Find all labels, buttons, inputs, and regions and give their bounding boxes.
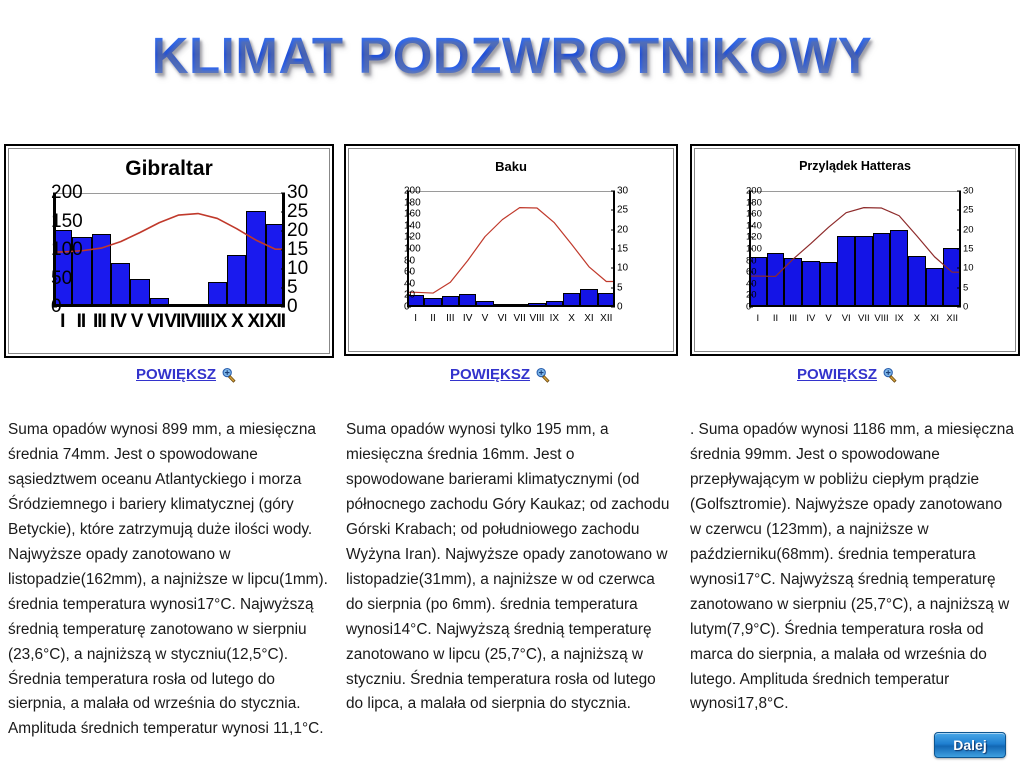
y-tick-label-right: 10 [963,263,974,274]
x-tick-label: VIII [873,313,891,324]
x-axis-labels: IIIIIIIVVVIVIIVIIIIXXXIXII [749,313,961,324]
x-axis [407,305,615,307]
zoom-link-gibraltar[interactable]: POWIĘKSZ [136,366,237,383]
x-tick-label: I [749,313,767,324]
y-tick-label-right: 25 [963,205,974,216]
y-tick-right [957,268,961,269]
zoom-link-label: POWIĘKSZ [797,366,877,383]
y-tick-label-right: 0 [963,302,968,313]
climate-plot: 050100150200 051015202530 IIIIIIIVVVIVII… [53,193,285,307]
x-tick-label: VII [855,313,873,324]
y-tick-left [407,283,411,284]
page-title: KLIMAT PODZWROTNIKOWY [152,26,873,85]
y-tick-left [749,237,753,238]
x-tick-label: I [407,313,424,324]
x-axis-labels: IIIIIIIVVVIVIIVIIIIXXXIXII [53,311,285,333]
y-tick-label-right: 15 [617,244,628,255]
y-tick-label-right: 0 [287,296,298,318]
y-tick-label-right: 10 [617,263,628,274]
y-tick-right [611,229,615,230]
y-tick-left [53,193,57,194]
y-tick-label-right: 10 [287,258,308,280]
x-tick-label: XII [265,311,285,333]
y-tick-label-right: 15 [963,244,974,255]
chart-inner: Gibraltar 050100150200 051015202530 IIII… [8,148,330,354]
y-tick-right [957,249,961,250]
y-tick-right [611,210,615,211]
y-tick-label-right: 20 [617,224,628,235]
y-tick-right [611,191,615,192]
x-axis [53,304,285,307]
y-tick-left [407,225,411,226]
y-tick-right [281,250,285,251]
x-tick-label: VIII [185,311,210,333]
y-axis-left-labels: 020406080100120140160180200 [717,191,746,307]
y-tick-left [53,307,57,308]
y-tick-left [407,272,411,273]
x-tick-label: VI [146,311,165,333]
x-tick-label: VI [837,313,855,324]
x-tick-label: VII [511,313,528,324]
chart-panel-gibraltar[interactable]: Gibraltar 050100150200 051015202530 IIII… [4,144,334,358]
zoom-links-row: POWIĘKSZ POWIĘKSZ POWIĘKSZ [0,366,1024,390]
y-tick-label-right: 5 [287,277,298,299]
y-tick-left [749,225,753,226]
slide-root: KLIMAT PODZWROTNIKOWY Gibraltar 05010015… [0,0,1024,768]
x-axis [749,305,961,307]
y-tick-right [611,287,615,288]
y-tick-label-right: 25 [287,201,308,223]
x-tick-label: V [476,313,493,324]
y-tick-label-right: 30 [287,182,308,204]
y-tick-right [957,307,961,308]
x-tick-label: XI [580,313,597,324]
y-tick-left [749,295,753,296]
chart-title: Baku [349,159,673,174]
chart-inner: Przylądek Hatteras 020406080100120140160… [694,148,1016,352]
page-title-container: KLIMAT PODZWROTNIKOWY [0,26,1024,85]
y-tick-left [407,249,411,250]
y-tick-left [749,202,753,203]
description-przyladek-hatteras: . Suma opadów wynosi 1186 mm, a miesięcz… [690,418,1016,717]
x-tick-label: IV [802,313,820,324]
x-tick-label: XII [598,313,615,324]
y-tick-label-right: 25 [617,205,628,216]
y-tick-left [407,295,411,296]
y-tick-label-right: 15 [287,239,308,261]
x-axis-labels: IIIIIIIVVVIVIIVIIIIXXXIXII [407,313,615,324]
x-tick-label: III [784,313,802,324]
description-gibraltar: Suma opadów wynosi 899 mm, a miesięczna … [8,418,328,742]
y-tick-left [407,214,411,215]
y-tick-left [53,278,57,279]
y-tick-right [281,268,285,269]
x-tick-label: X [908,313,926,324]
x-tick-label: II [424,313,441,324]
chart-title: Przylądek Hatteras [695,159,1015,173]
x-tick-label: VII [164,311,184,333]
x-tick-label: III [90,311,109,333]
chart-title: Gibraltar [9,157,329,181]
magnifier-plus-icon [535,367,551,383]
y-tick-left [749,283,753,284]
x-tick-label: IV [109,311,128,333]
x-tick-label: XI [246,311,265,333]
y-tick-left [407,191,411,192]
y-axis-left-labels: 050100150200 [11,193,51,307]
zoom-link-label: POWIĘKSZ [136,366,216,383]
y-tick-right [281,307,285,308]
y-tick-left [53,221,57,222]
y-tick-left [749,191,753,192]
y-tick-left [407,260,411,261]
x-tick-label: IV [459,313,476,324]
x-tick-label: V [127,311,146,333]
x-tick-label: III [442,313,459,324]
y-tick-label-right: 20 [287,220,308,242]
chart-panel-baku[interactable]: Baku 020406080100120140160180200 0510152… [344,144,678,356]
x-tick-label: II [72,311,91,333]
y-tick-right [957,287,961,288]
x-tick-label: I [53,311,72,333]
x-tick-label: V [820,313,838,324]
x-tick-label: X [228,311,247,333]
x-tick-label: XI [926,313,944,324]
y-tick-left [407,307,411,308]
next-button[interactable]: Dalej [934,732,1006,758]
chart-panel-przyladek-hatteras[interactable]: Przylądek Hatteras 020406080100120140160… [690,144,1020,356]
x-tick-label: VIII [528,313,545,324]
y-tick-right [957,191,961,192]
climate-plot: 020406080100120140160180200 051015202530… [749,191,961,307]
y-tick-left [407,202,411,203]
x-tick-label: IX [890,313,908,324]
temperature-line [749,191,961,307]
y-tick-right [611,249,615,250]
y-tick-right [611,268,615,269]
climate-plot: 020406080100120140160180200 051015202530… [407,191,615,307]
y-tick-left [749,307,753,308]
y-tick-left [749,272,753,273]
y-tick-right [281,288,285,289]
zoom-link-przyladek-hatteras[interactable]: POWIĘKSZ [797,366,898,383]
y-tick-left [407,237,411,238]
y-tick-right [281,211,285,212]
y-tick-label-right: 30 [963,186,974,197]
y-tick-left [749,249,753,250]
x-tick-label: VI [494,313,511,324]
y-tick-right [611,307,615,308]
y-tick-left [749,260,753,261]
zoom-link-label: POWIĘKSZ [450,366,530,383]
temperature-line [407,191,615,307]
zoom-link-baku[interactable]: POWIĘKSZ [450,366,551,383]
y-axis-right-labels: 051015202530 [617,191,647,307]
y-tick-right [957,210,961,211]
charts-row: Gibraltar 050100150200 051015202530 IIII… [0,144,1024,358]
magnifier-plus-icon [221,367,237,383]
y-tick-right [281,230,285,231]
y-tick-label-right: 5 [617,282,623,293]
temperature-line [53,193,285,307]
y-tick-left [53,250,57,251]
x-tick-label: II [767,313,785,324]
y-tick-label-right: 20 [963,224,974,235]
description-baku: Suma opadów wynosi tylko 195 mm, a miesi… [346,418,676,717]
y-tick-label-right: 5 [963,282,968,293]
chart-inner: Baku 020406080100120140160180200 0510152… [348,148,674,352]
y-tick-right [281,193,285,194]
y-tick-right [957,229,961,230]
y-tick-left [749,214,753,215]
x-tick-label: IX [209,311,228,333]
y-axis-right-labels: 051015202530 [287,193,325,307]
x-tick-label: XII [943,313,961,324]
x-tick-label: X [563,313,580,324]
y-axis-left-labels: 020406080100120140160180200 [373,191,404,307]
y-tick-label-right: 30 [617,186,628,197]
y-tick-label-right: 0 [617,302,623,313]
x-tick-label: IX [546,313,563,324]
magnifier-plus-icon [882,367,898,383]
y-axis-right-labels: 051015202530 [963,191,991,307]
